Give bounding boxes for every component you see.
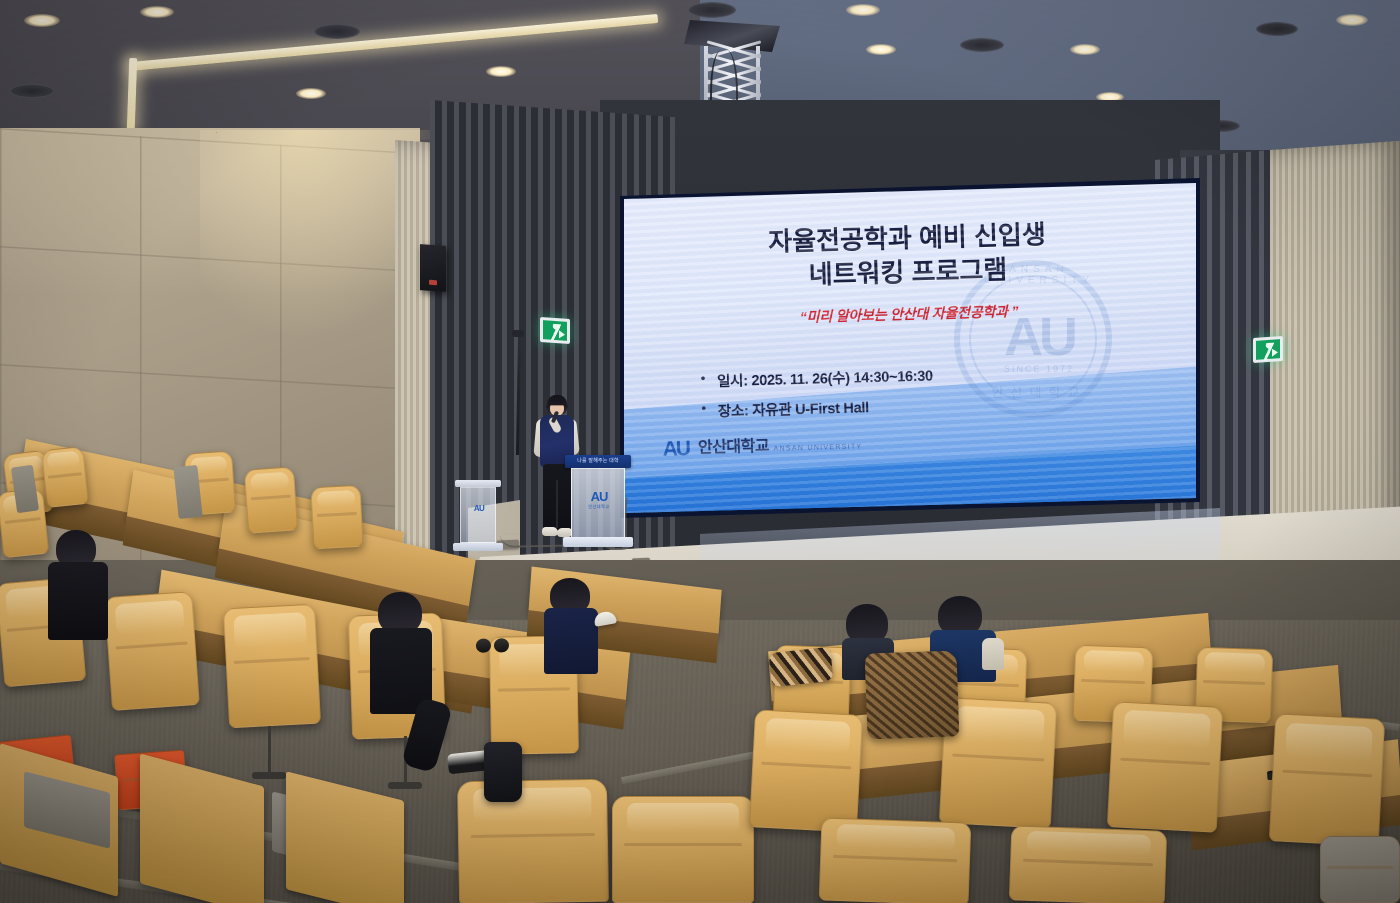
auditorium-chair-grey[interactable]	[1320, 836, 1400, 903]
ceiling-vent	[1256, 22, 1298, 36]
secondary-podium-body: AU	[460, 487, 496, 543]
downlight	[486, 66, 516, 77]
downlight	[846, 4, 880, 16]
auditorium-chair[interactable]	[41, 446, 89, 508]
au-monogram-icon: AU 안산대학교	[572, 489, 626, 510]
lecture-hall-photo: ANSAN UNIVERSITY AU SINCE 1972 안산대학교 자율전…	[0, 0, 1400, 903]
auditorium-chair[interactable]	[1269, 713, 1386, 847]
podium-banner-strip: 나를 말해주는 대학	[565, 455, 631, 468]
chair-highlight	[1027, 831, 1151, 856]
audience-shirt-collar	[982, 638, 1004, 670]
presenter-leg-split	[556, 480, 558, 528]
chair-highlight	[836, 824, 955, 851]
secondary-podium-base	[453, 543, 503, 551]
downlight	[296, 88, 326, 99]
auditorium-chair[interactable]	[1009, 825, 1168, 903]
podium-logo-mark: AU	[591, 489, 608, 504]
exit-sign-icon-left	[540, 317, 570, 344]
projection-screen: ANSAN UNIVERSITY AU SINCE 1972 안산대학교 자율전…	[624, 182, 1196, 513]
chair-highlight	[316, 490, 355, 509]
podium-base	[563, 537, 633, 547]
auditorium-chair[interactable]	[457, 779, 609, 903]
downlight	[1070, 44, 1100, 55]
downlight	[140, 6, 174, 18]
auditorium-chair[interactable]	[104, 591, 200, 711]
auditorium-chair[interactable]	[310, 485, 363, 550]
au-monogram-icon: AU	[461, 504, 497, 513]
podium-banner-text: 나를 말해주는 대학	[565, 456, 631, 467]
chair-highlight	[765, 718, 851, 755]
downlight	[1336, 14, 1368, 26]
chair-highlight	[1083, 650, 1144, 673]
chair-highlight	[627, 803, 739, 832]
downlight	[24, 14, 60, 27]
secondary-podium-top	[455, 480, 501, 487]
exit-sign-icon-right	[1253, 336, 1283, 363]
leopard-print-coat	[865, 650, 960, 739]
desk-row	[216, 132, 217, 133]
audience-jacket	[544, 608, 598, 674]
chair-highlight	[233, 612, 307, 649]
chair-highlight	[1205, 652, 1265, 674]
podium-acrylic-body: AU 안산대학교	[571, 468, 625, 538]
chair-highlight	[955, 706, 1045, 745]
headphone-cup-left	[475, 638, 491, 653]
ceiling-vent	[10, 84, 54, 98]
downlight	[866, 44, 896, 55]
screen-scanline-overlay	[624, 182, 1196, 513]
auditorium-chair[interactable]	[1107, 701, 1223, 833]
patterned-scarf	[768, 647, 833, 687]
auditorium-chair[interactable]	[819, 817, 972, 903]
wall-speaker-icon	[420, 244, 446, 292]
main-podium: 나를 말해주는 대학 AU 안산대학교	[565, 455, 631, 547]
audience-jacket	[48, 562, 108, 640]
exit-arrow-glyph	[559, 330, 565, 338]
chair-pedestal	[268, 726, 271, 774]
ceiling-vent	[960, 38, 1004, 52]
chair-highlight	[114, 599, 185, 635]
secondary-podium: AU	[455, 480, 501, 552]
chair-highlight	[250, 471, 290, 491]
ceiling-vent	[688, 2, 736, 18]
chair-highlight	[1123, 710, 1211, 749]
backpack	[484, 742, 522, 802]
headphone-cup-right	[494, 638, 510, 653]
microphone-icon	[512, 330, 524, 337]
chair-highlight	[1285, 722, 1373, 762]
auditorium-chair[interactable]	[223, 604, 321, 729]
exit-arrow-glyph	[1272, 348, 1278, 356]
ceiling-vent	[314, 24, 360, 39]
podium-logo-sub: 안산대학교	[572, 504, 626, 510]
auditorium-chair[interactable]	[612, 796, 754, 903]
auditorium-chair[interactable]	[749, 709, 863, 832]
auditorium-chair[interactable]	[244, 466, 298, 533]
presenter-shoe-left	[542, 527, 558, 536]
chair-highlight	[47, 451, 80, 470]
headphones-icon	[475, 637, 510, 655]
